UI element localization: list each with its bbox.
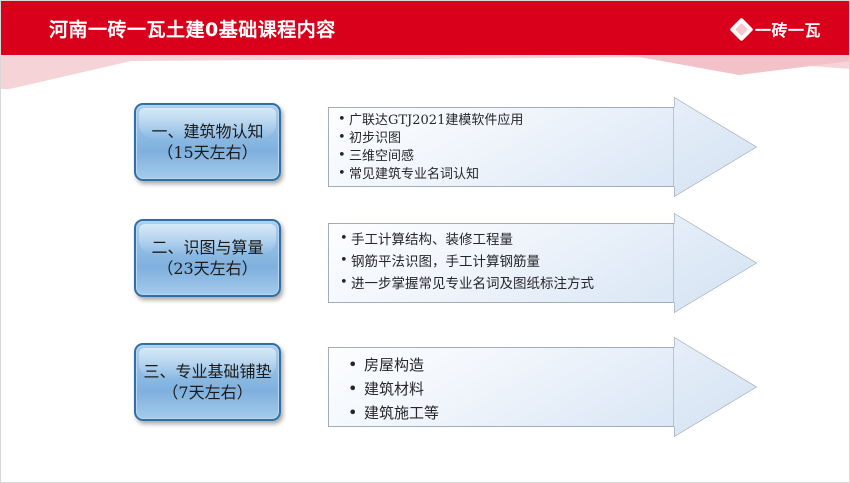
arrow-content-list: 广联达GTJ2021建模软件应用 初步识图 三维空间感 常见建筑专业名词认知 [338, 112, 668, 184]
list-item: 建筑材料 [348, 377, 678, 401]
list-item: 初步识图 [338, 130, 668, 148]
accent-shape-left [1, 55, 850, 89]
stage-duration: （7天左右） [162, 382, 252, 403]
accent-shape-right [621, 55, 850, 89]
list-item: 建筑施工等 [348, 401, 678, 425]
stage-title: 三、专业基础铺垫 [143, 362, 271, 382]
stage-title: 一、建筑物认知 [151, 122, 263, 142]
stage-arrow: 广联达GTJ2021建模软件应用 初步识图 三维空间感 常见建筑专业名词认知 [328, 97, 757, 197]
page-title: 河南一砖一瓦土建0基础课程内容 [49, 15, 336, 42]
stage-row: 一、建筑物认知 （15天左右） 广联达GTJ2021建模软件应用 初步识图 三维… [1, 97, 850, 197]
list-item: 三维空间感 [338, 148, 668, 166]
stage-box[interactable]: 二、识图与算量 （23天左右） [134, 219, 281, 297]
list-item: 广联达GTJ2021建模软件应用 [338, 112, 668, 130]
stage-title: 二、识图与算量 [151, 238, 263, 258]
header-bar: 河南一砖一瓦土建0基础课程内容 一砖一瓦 [1, 1, 850, 55]
diamond-icon [729, 17, 753, 41]
arrow-content-list: 手工计算结构、装修工程量 钢筋平法识图，手工计算钢筋量 进一步掌握常见专业名词及… [340, 229, 670, 295]
arrow-content-list: 房屋构造 建筑材料 建筑施工等 [348, 353, 678, 425]
stage-arrow: 房屋构造 建筑材料 建筑施工等 [328, 337, 757, 437]
stage-row: 二、识图与算量 （23天左右） 手工计算结构、装修工程量 钢筋平法识图，手工计算… [1, 213, 850, 313]
stage-duration: （15天左右） [157, 142, 257, 163]
slide-canvas: 河南一砖一瓦土建0基础课程内容 一砖一瓦 一、建筑物认知 （15天左右） 广联达… [0, 0, 850, 483]
list-item: 房屋构造 [348, 353, 678, 377]
stage-box[interactable]: 三、专业基础铺垫 （7天左右） [134, 343, 281, 421]
header-accent-band [1, 55, 850, 89]
brand-logo: 一砖一瓦 [733, 17, 821, 41]
stage-box[interactable]: 一、建筑物认知 （15天左右） [134, 103, 281, 181]
brand-logo-text: 一砖一瓦 [755, 17, 821, 41]
list-item: 钢筋平法识图，手工计算钢筋量 [340, 251, 670, 273]
list-item: 手工计算结构、装修工程量 [340, 229, 670, 251]
stage-row: 三、专业基础铺垫 （7天左右） 房屋构造 建筑材料 建筑施工等 [1, 337, 850, 437]
stage-arrow: 手工计算结构、装修工程量 钢筋平法识图，手工计算钢筋量 进一步掌握常见专业名词及… [328, 213, 757, 313]
list-item: 进一步掌握常见专业名词及图纸标注方式 [340, 273, 670, 295]
stage-duration: （23天左右） [157, 258, 257, 279]
list-item: 常见建筑专业名词认知 [338, 166, 668, 184]
